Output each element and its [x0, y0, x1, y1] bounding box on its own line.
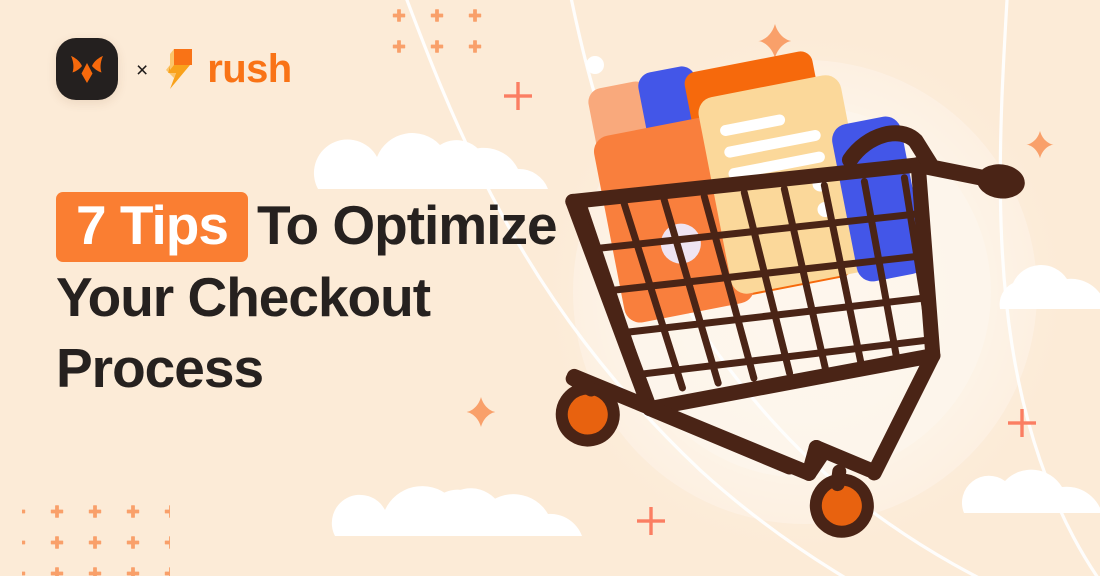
rush-lightning-bolt-icon	[166, 47, 196, 91]
fox-mark-icon	[69, 53, 105, 85]
headline-highlight-chip: 7 Tips	[56, 192, 248, 262]
headline-line-1-rest: To Optimize	[257, 194, 557, 256]
cross-decor-1	[504, 82, 532, 110]
plus-grid-pattern-bottom	[22, 500, 170, 576]
rush-wordmark: rush	[207, 49, 291, 89]
headline-line-2: Your Checkout	[56, 262, 557, 333]
marketing-banner: × rush 7 TipsTo Optimize Your Checkout P…	[0, 0, 1100, 576]
headline-line-3: Process	[56, 333, 557, 404]
page-title: 7 TipsTo Optimize Your Checkout Process	[56, 190, 557, 404]
partner-logo-icon[interactable]	[56, 38, 118, 100]
headline-line-1: 7 TipsTo Optimize	[56, 190, 557, 262]
rush-logo[interactable]: rush	[166, 47, 291, 91]
collab-separator: ×	[136, 60, 148, 81]
plus-grid-pattern-top	[370, 0, 500, 58]
cart-handle-grip	[969, 153, 1033, 210]
brand-bar: × rush	[56, 38, 292, 100]
shopping-cart-illustration	[540, 30, 1080, 570]
cloud-left-upper	[314, 133, 548, 189]
